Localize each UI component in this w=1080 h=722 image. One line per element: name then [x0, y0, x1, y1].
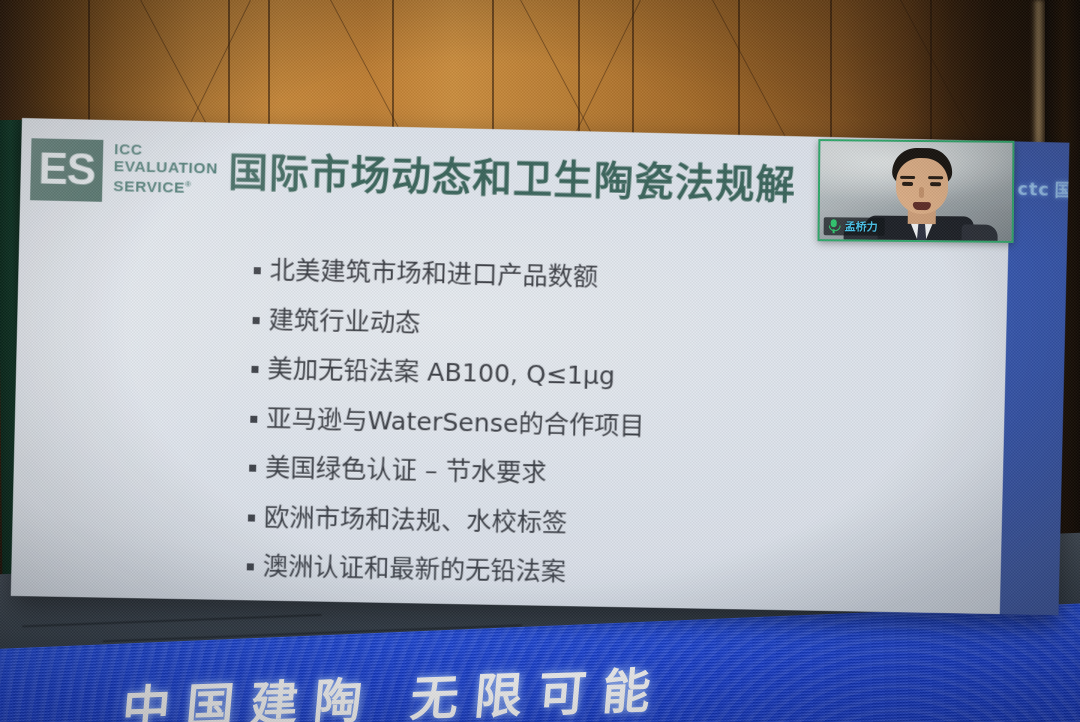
bullet-square-icon	[250, 415, 257, 422]
microphone-icon[interactable]	[828, 219, 840, 233]
es-logo-mark: ES	[30, 138, 103, 202]
bullet-square-icon	[247, 563, 254, 570]
list-item-label: 美加无铅法案 AB100, Q≤1μg	[267, 352, 615, 393]
list-item: 澳洲认证和最新的无铅法案	[246, 549, 938, 596]
list-item-label: 欧洲市场和法规、水校标签	[264, 500, 568, 540]
list-item: 美国绿色认证 – 节水要求	[249, 451, 941, 498]
bullet-square-icon	[254, 267, 261, 274]
list-item: 美加无铅法案 AB100, Q≤1μg	[251, 352, 943, 400]
slide-bullet-list: 北美建筑市场和进口产品数额 建筑行业动态 美加无铅法案 AB100, Q≤1μg…	[245, 253, 945, 615]
ctc-logo-chinese: 国检	[1054, 181, 1069, 202]
bullet-square-icon	[251, 366, 258, 373]
ctc-logo: ctc国检	[1017, 175, 1069, 201]
list-item: 亚马逊与WaterSense的合作项目	[250, 401, 942, 449]
list-item: 北美建筑市场和进口产品数额	[253, 253, 945, 302]
list-item-label: 美国绿色认证 – 节水要求	[265, 451, 547, 490]
participant-name-badge: 孟桥力	[824, 217, 885, 236]
bullet-square-icon	[249, 465, 256, 472]
es-logo-text: ES	[38, 147, 96, 192]
ctc-logo-latin: ctc	[1017, 179, 1050, 201]
list-item: 欧洲市场和法规、水校标签	[248, 500, 940, 547]
list-item-label: 建筑行业动态	[268, 303, 421, 340]
icc-logo-line-3: SERVICE®	[113, 175, 218, 198]
list-item: 建筑行业动态	[252, 303, 944, 352]
list-item-label: 澳洲认证和最新的无铅法案	[262, 550, 566, 590]
list-item-label: 亚马逊与WaterSense的合作项目	[266, 402, 645, 444]
icc-es-logo: ES ICC EVALUATION SERVICE®	[30, 138, 218, 204]
participant-name: 孟桥力	[845, 218, 878, 234]
bullet-square-icon	[253, 317, 260, 324]
stage-scene: 中国建陶 无限可能 ES ICC EVALUATION SERVICE® 国际市…	[0, 0, 1080, 722]
video-participant-tile[interactable]: 孟桥力	[818, 139, 1015, 243]
icc-logo-wordmark: ICC EVALUATION SERVICE®	[113, 142, 218, 198]
list-item-label: 北美建筑市场和进口产品数额	[269, 254, 598, 295]
bullet-square-icon	[248, 514, 255, 521]
